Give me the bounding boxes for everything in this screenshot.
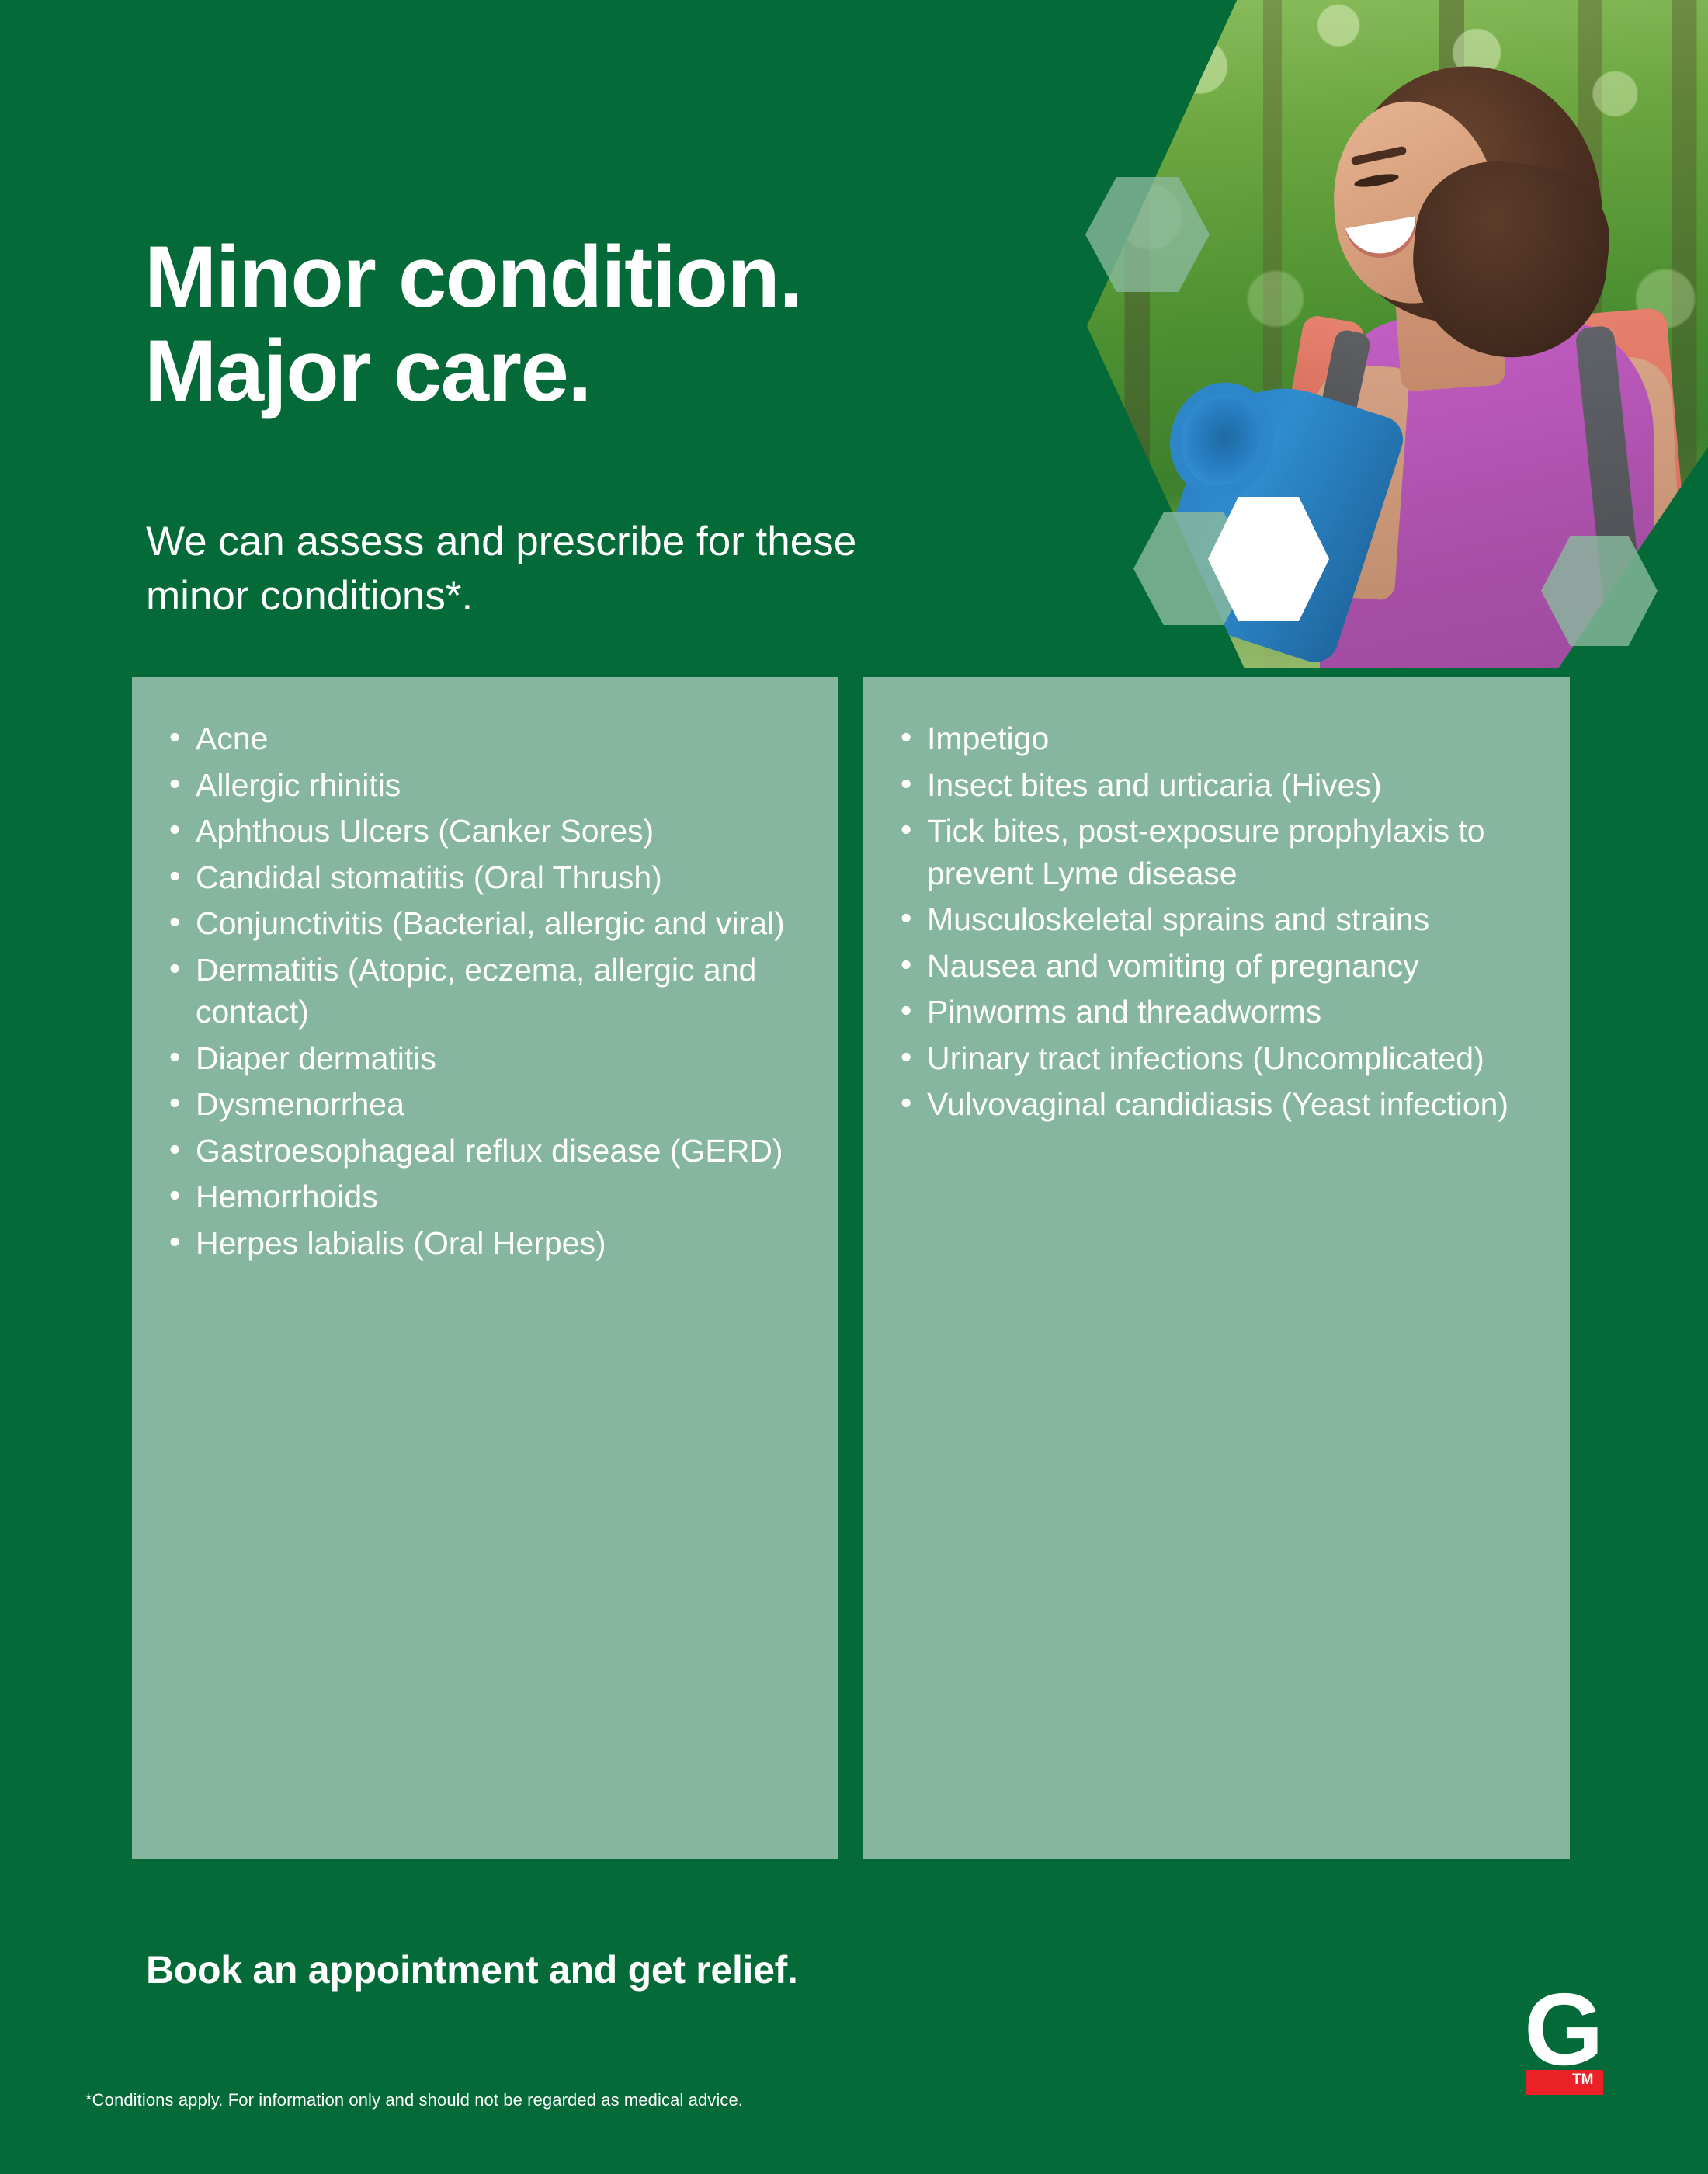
list-item: Herpes labialis (Oral Herpes) — [163, 1222, 807, 1265]
list-item: Candidal stomatitis (Oral Thrush) — [163, 856, 807, 899]
list-item: Dysmenorrhea — [163, 1083, 807, 1126]
list-item: Gastroesophageal reflux disease (GERD) — [163, 1130, 807, 1172]
list-item: Musculoskeletal sprains and strains — [894, 898, 1539, 941]
list-item: Tick bites, post-exposure prophylaxis to… — [894, 810, 1539, 894]
list-item: Conjunctivitis (Bacterial, allergic and … — [163, 902, 807, 945]
list-item: Allergic rhinitis — [163, 764, 807, 807]
brand-logo: G TM — [1524, 1978, 1648, 2110]
list-item: Acne — [163, 717, 807, 760]
headline-line-2: Major care. — [144, 325, 1061, 418]
logo-letter-g: G — [1524, 1978, 1602, 2081]
conditions-column-right: Impetigo Insect bites and urticaria (Hiv… — [863, 677, 1570, 1859]
subheadline-line-1: We can assess and prescribe for these — [146, 519, 856, 564]
headline-line-1: Minor condition. — [144, 228, 802, 325]
logo-trademark-mark: TM — [1572, 2072, 1593, 2087]
conditions-list-left: Acne Allergic rhinitis Aphthous Ulcers (… — [163, 717, 807, 1264]
list-item: Hemorrhoids — [163, 1176, 807, 1218]
list-item: Urinary tract infections (Uncomplicated) — [894, 1037, 1539, 1080]
disclaimer-text: *Conditions apply. For information only … — [85, 2090, 743, 2110]
list-item: Nausea and vomiting of pregnancy — [894, 945, 1539, 988]
conditions-column-left: Acne Allergic rhinitis Aphthous Ulcers (… — [132, 677, 838, 1859]
subheadline: We can assess and prescribe for these mi… — [146, 515, 1062, 623]
list-item: Pinworms and threadworms — [894, 991, 1539, 1033]
list-item: Dermatitis (Atopic, eczema, allergic and… — [163, 949, 807, 1033]
conditions-panels: Acne Allergic rhinitis Aphthous Ulcers (… — [132, 677, 1570, 1859]
conditions-list-right: Impetigo Insect bites and urticaria (Hiv… — [894, 717, 1539, 1126]
list-item: Aphthous Ulcers (Canker Sores) — [163, 810, 807, 853]
list-item: Impetigo — [894, 717, 1539, 760]
subheadline-line-2: minor conditions*. — [146, 569, 1062, 623]
list-item: Diaper dermatitis — [163, 1037, 807, 1080]
list-item: Vulvovaginal candidiasis (Yeast infectio… — [894, 1083, 1539, 1126]
page-title: Minor condition. Major care. — [144, 231, 1061, 418]
list-item: Insect bites and urticaria (Hives) — [894, 764, 1539, 807]
call-to-action: Book an appointment and get relief. — [146, 1947, 798, 1992]
poster-canvas: Minor condition. Major care. We can asse… — [0, 0, 1708, 2174]
